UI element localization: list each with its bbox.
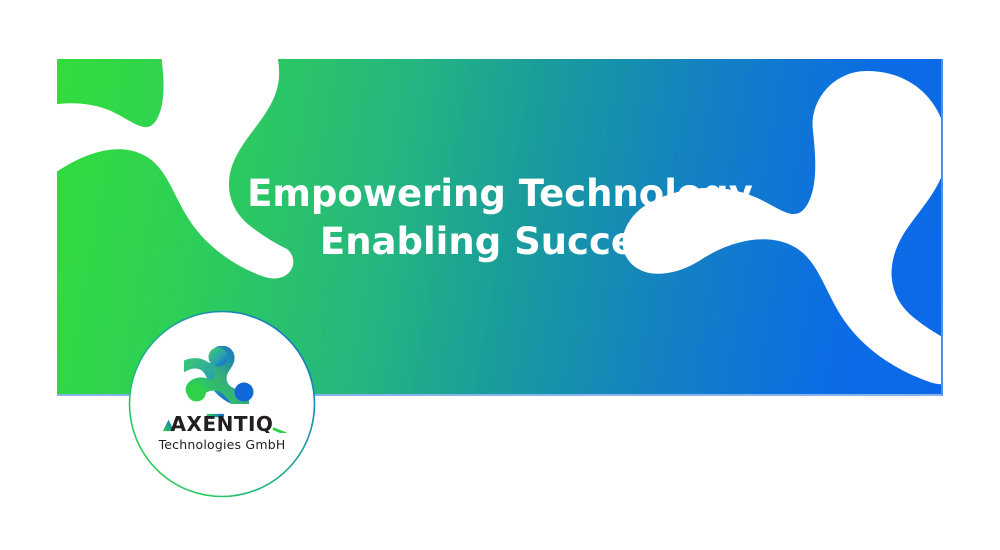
logo-badge[interactable]: AXENTIQ Technologies GmbH bbox=[128, 310, 316, 498]
node-bottom-right bbox=[235, 383, 254, 402]
page-title: Empowering Technology Enabling Success bbox=[57, 170, 943, 266]
axentiq-wordmark: AXENTIQ bbox=[149, 412, 295, 433]
node-bottom-left bbox=[187, 383, 206, 402]
headline-line-1: Empowering Technology bbox=[57, 170, 943, 218]
logo-content: AXENTIQ Technologies GmbH bbox=[128, 310, 316, 498]
banner-canvas: Empowering Technology Enabling Success bbox=[0, 0, 1000, 550]
node-top bbox=[209, 348, 228, 367]
logo-accent-tail bbox=[272, 427, 286, 433]
logo-subtext: Technologies GmbH bbox=[159, 437, 286, 452]
axentiq-node-mark-icon bbox=[184, 346, 260, 404]
logo-wordmark-text: AXENTIQ bbox=[171, 412, 274, 433]
headline-line-2: Enabling Success bbox=[57, 218, 943, 266]
